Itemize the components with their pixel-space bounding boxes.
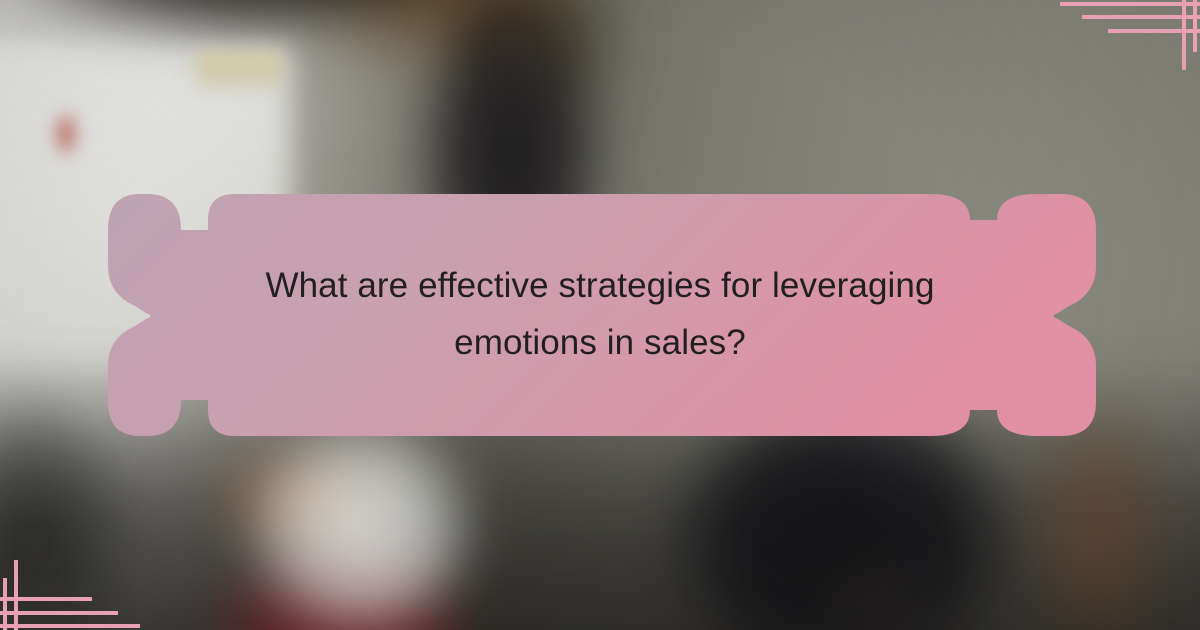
deco-line-h3 [1108,29,1200,33]
question-card-shape [104,194,1096,436]
deco-line-v2 [3,578,7,630]
corner-frame-bottom-left [0,560,145,630]
deco-line-v1 [14,560,18,630]
deco-line-h1 [1060,2,1200,6]
question-card: What are effective strategies for levera… [104,194,1096,436]
corner-frame-top-right [1055,0,1200,70]
social-card-canvas: What are effective strategies for levera… [0,0,1200,630]
deco-line-v1 [1182,0,1186,70]
deco-line-h1 [0,624,140,628]
deco-line-v2 [1193,0,1197,52]
